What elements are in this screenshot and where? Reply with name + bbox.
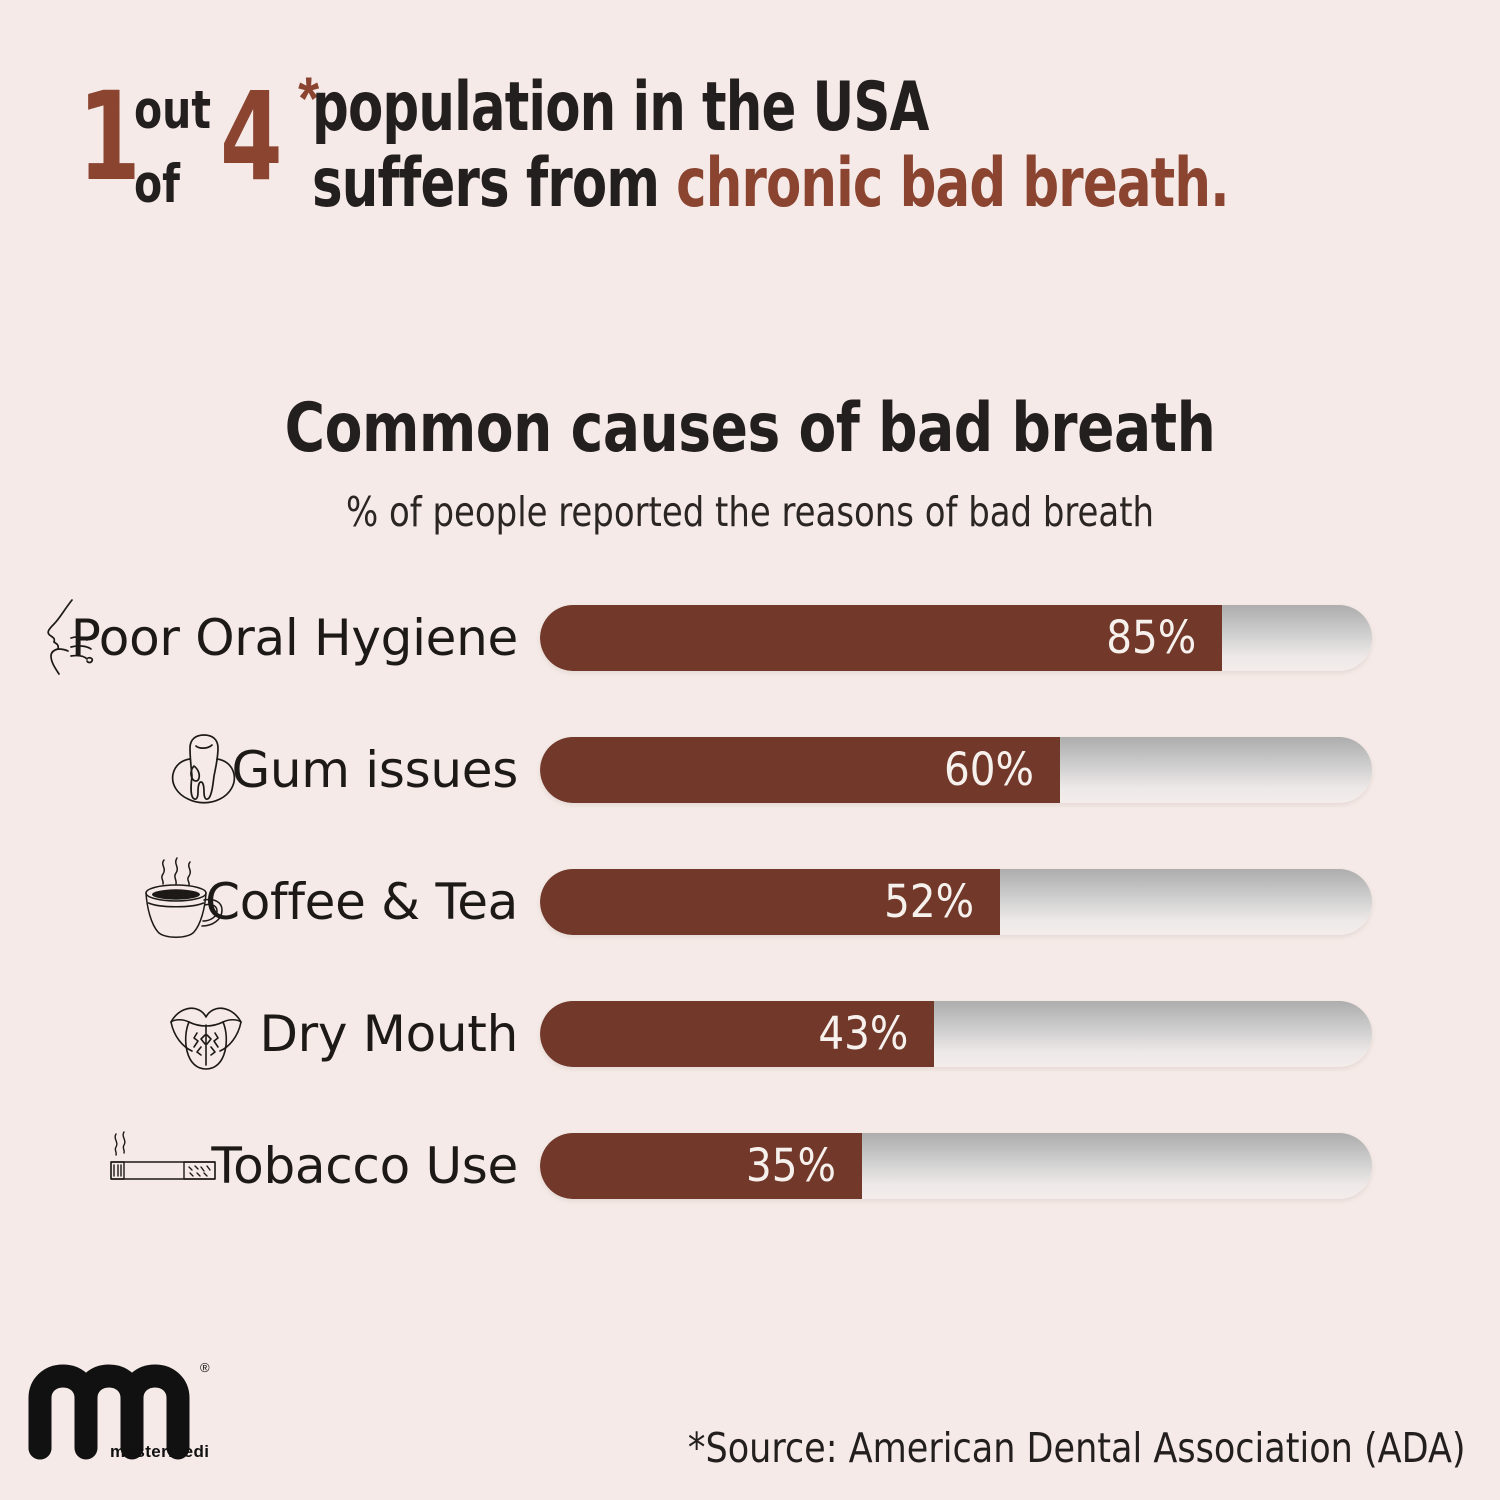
bar-track: 43% (540, 1001, 1372, 1067)
bar-value-label: 43% (818, 1010, 934, 1058)
mastermedi-logo: ® mastermedi (28, 1352, 238, 1470)
bar-value-label: 60% (944, 746, 1060, 794)
chart-subtitle: % of people reported the reasons of bad … (60, 488, 1440, 536)
headline-out-of-stack: out of (134, 74, 211, 222)
row-label: Gum issues (231, 742, 518, 798)
bar-track: 35% (540, 1133, 1372, 1199)
headline-number-one: 1 (78, 62, 139, 212)
row-label: Poor Oral Hygiene (71, 610, 518, 666)
row-label: Coffee & Tea (205, 874, 518, 930)
headline-number-four-wrap: 4 * (220, 62, 294, 212)
headline-line-2: suffers from chronic bad breath. (312, 146, 1229, 222)
headline-of-label: of (134, 148, 211, 222)
bar-track: 52% (540, 869, 1372, 935)
bar-chart: Poor Oral Hygiene 85% Gum issues (0, 592, 1500, 1252)
row-label: Tobacco Use (211, 1138, 518, 1194)
headline-line-2-accent: chronic bad breath. (676, 144, 1229, 223)
table-row: Poor Oral Hygiene 85% (0, 592, 1500, 724)
headline-line-2-dark: suffers from (312, 144, 676, 223)
bar-fill: 60% (540, 737, 1060, 803)
bar-fill: 52% (540, 869, 1000, 935)
logo-dot (171, 1444, 186, 1459)
logo-wordmark: mastermedi (110, 1442, 209, 1461)
headline-text-block: population in the USA suffers from chron… (312, 70, 1229, 222)
headline-out-label: out (134, 74, 211, 148)
bar-value-label: 52% (884, 878, 1000, 926)
cigarette-icon (98, 1120, 228, 1212)
bar-fill: 43% (540, 1001, 934, 1067)
table-row: Gum issues 60% (0, 724, 1500, 856)
source-note: *Source: American Dental Association (AD… (688, 1424, 1466, 1472)
dry-mouth-icon (160, 988, 252, 1080)
bar-track: 60% (540, 737, 1372, 803)
logo-registered-mark: ® (200, 1360, 210, 1375)
headline: 1 out of 4 * population in the USA suffe… (78, 62, 1404, 222)
bar-track: 85% (540, 605, 1372, 671)
chart-title: Common causes of bad breath (75, 392, 1425, 466)
table-row: Dry Mouth 43% (0, 988, 1500, 1120)
headline-number-four: 4 (220, 62, 281, 212)
bar-fill: 85% (540, 605, 1222, 671)
bar-value-label: 85% (1106, 614, 1222, 662)
bar-fill: 35% (540, 1133, 862, 1199)
bar-value-label: 35% (746, 1142, 862, 1190)
row-label: Dry Mouth (259, 1006, 518, 1062)
table-row: Tobacco Use 35% (0, 1120, 1500, 1252)
headline-line-1: population in the USA (312, 70, 1229, 146)
table-row: Coffee & Tea 52% (0, 856, 1500, 988)
